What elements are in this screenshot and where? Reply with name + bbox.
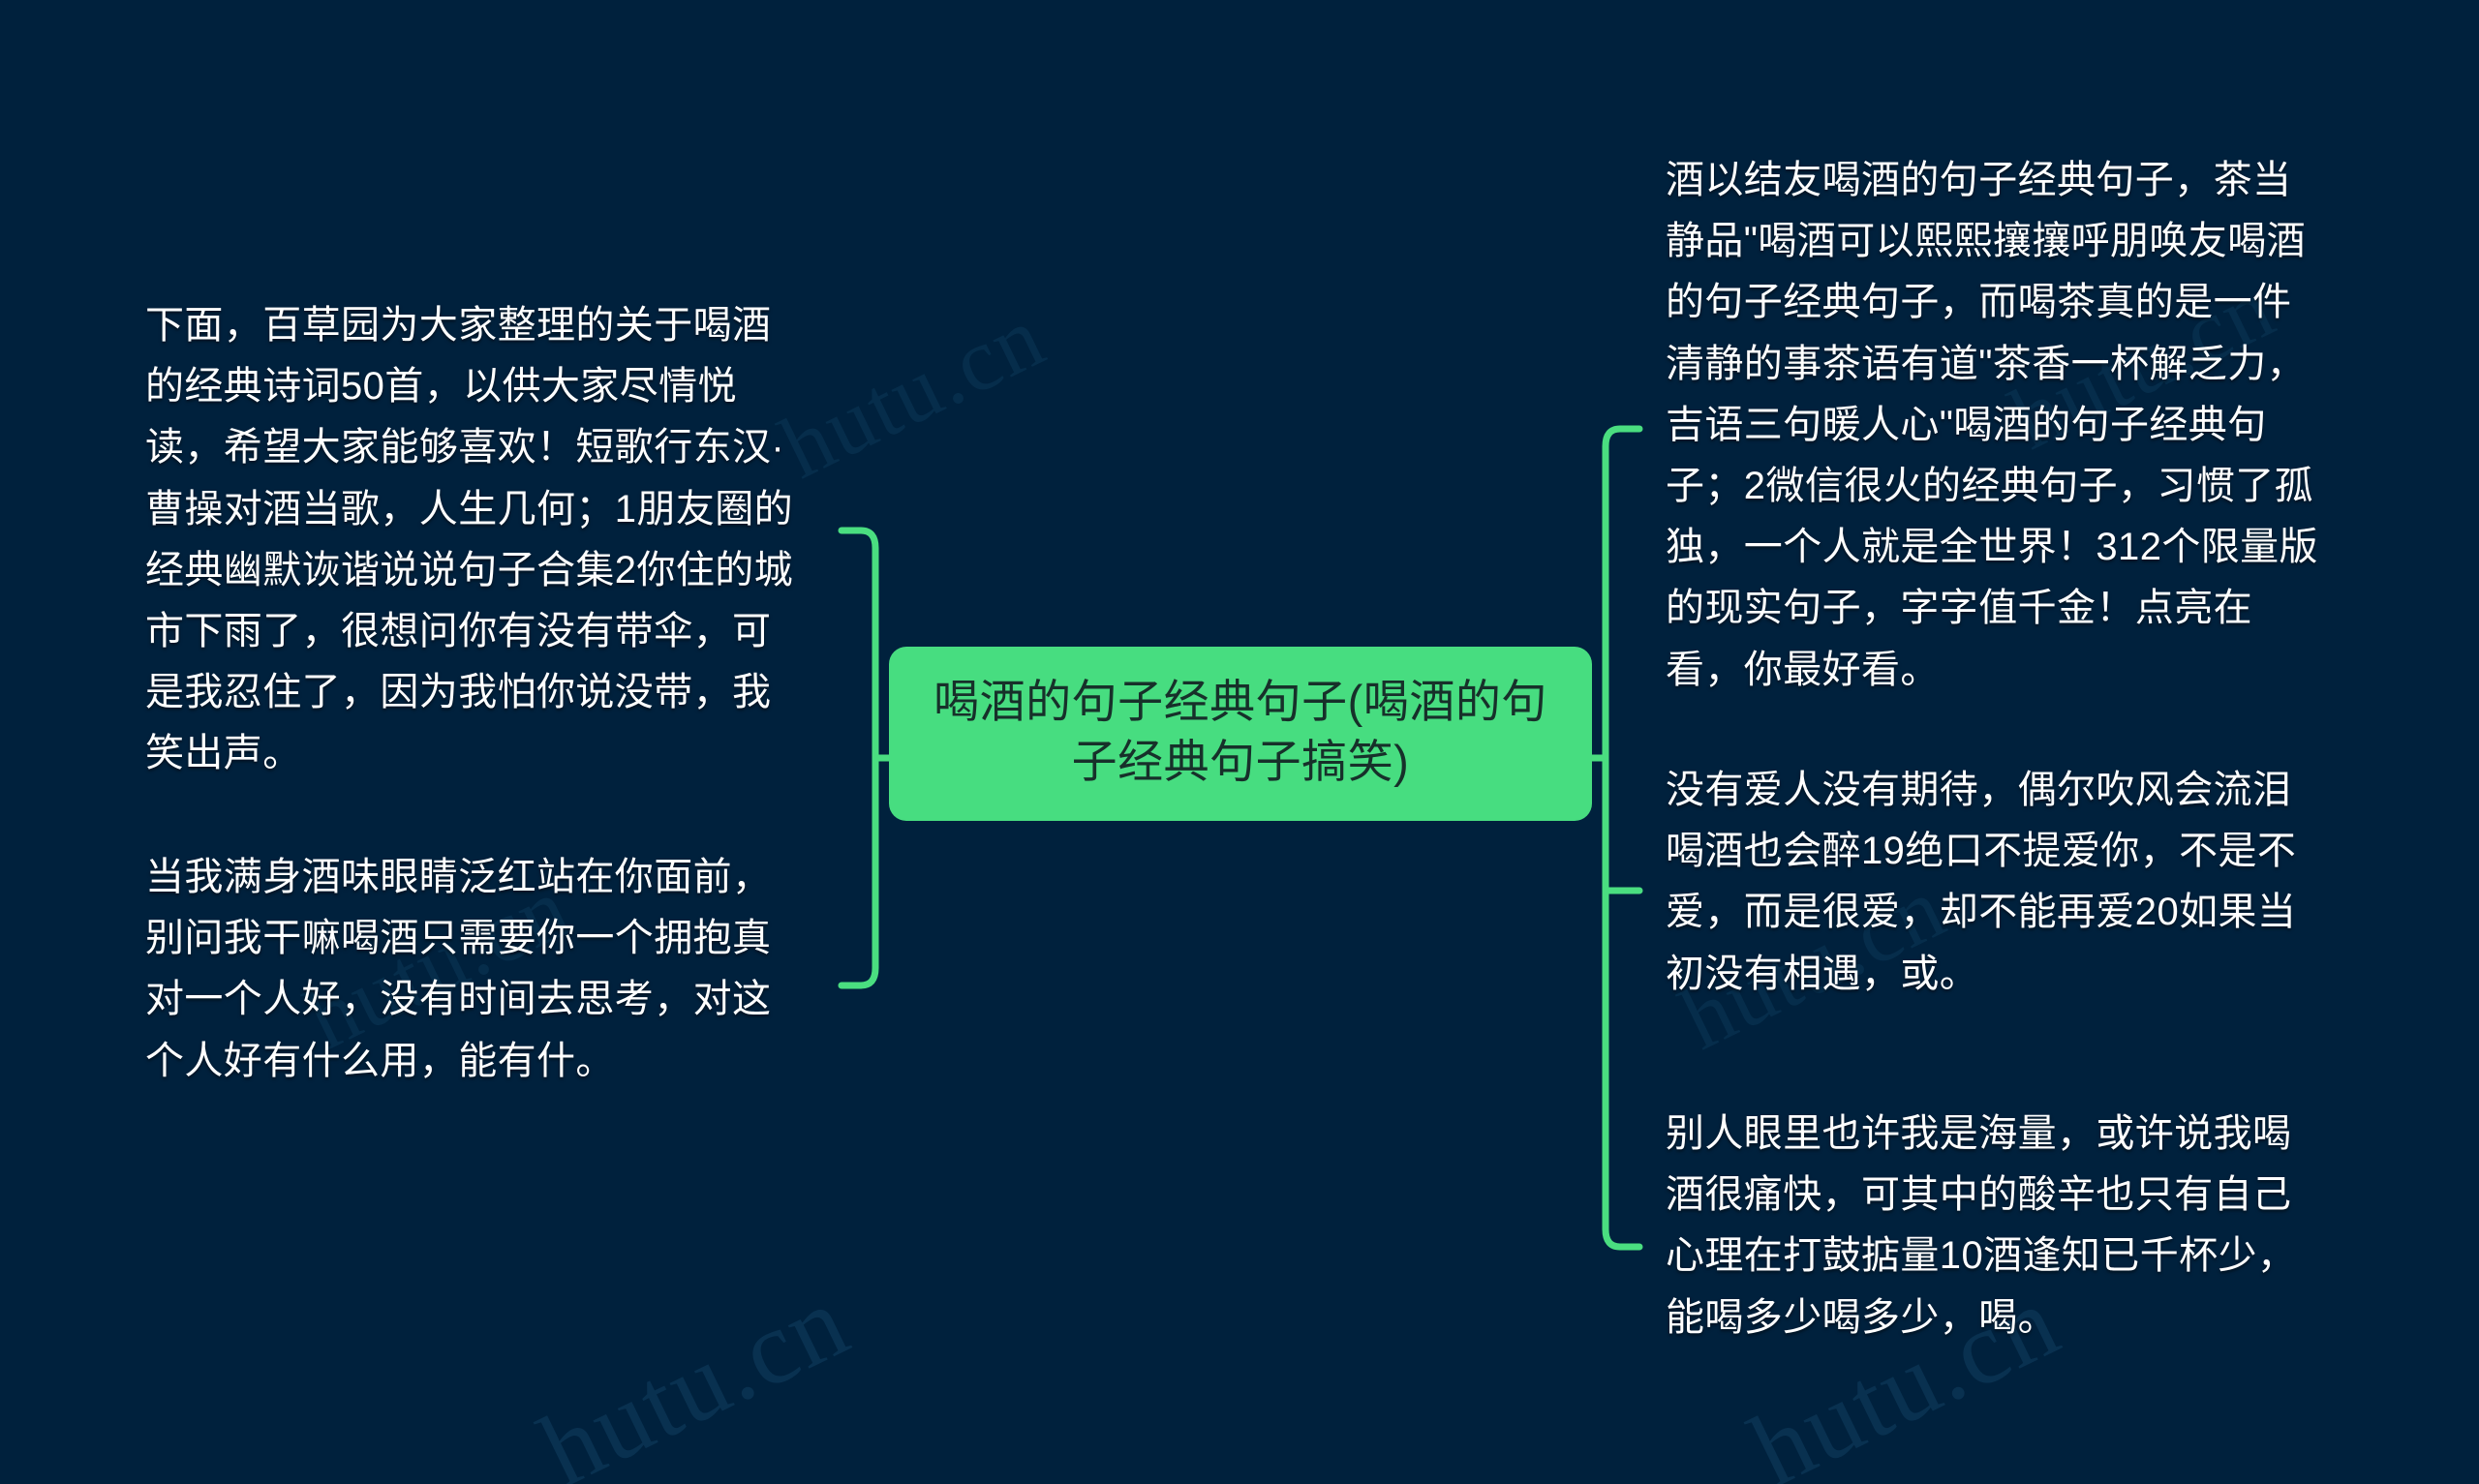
watermark: hutu.cn (523, 1261, 867, 1484)
mindmap-canvas: hutu.cn hutu.cn hutu.cn hutu.cn hutu.cn … (0, 0, 2479, 1484)
branch-left-2[interactable]: 当我满身酒味眼睛泛红站在你面前，别问我干嘛喝酒只需要你一个拥抱真对一个人好，没有… (145, 847, 804, 1092)
branch-left-1[interactable]: 下面，百草园为大家整理的关于喝酒的经典诗词50首，以供大家尽情悦读，希望大家能够… (145, 295, 804, 785)
left-bracket (842, 530, 875, 985)
right-bracket (1606, 429, 1639, 1247)
root-node[interactable]: 喝酒的句子经典句子(喝酒的句子经典句子搞笑) (889, 647, 1592, 821)
branch-right-2[interactable]: 没有爱人没有期待，偶尔吹风会流泪喝酒也会醉19绝口不提爱你，不是不爱，而是很爱，… (1666, 760, 2324, 1005)
watermark: hutu.cn (765, 285, 1060, 499)
branch-right-3[interactable]: 别人眼里也许我是海量，或许说我喝酒很痛快，可其中的酸辛也只有自己心理在打鼓掂量1… (1666, 1104, 2324, 1348)
branch-right-1[interactable]: 酒以结友喝酒的句子经典句子，茶当静品"喝酒可以熙熙攘攘呼朋唤友喝酒的句子经典句子… (1666, 150, 2324, 701)
